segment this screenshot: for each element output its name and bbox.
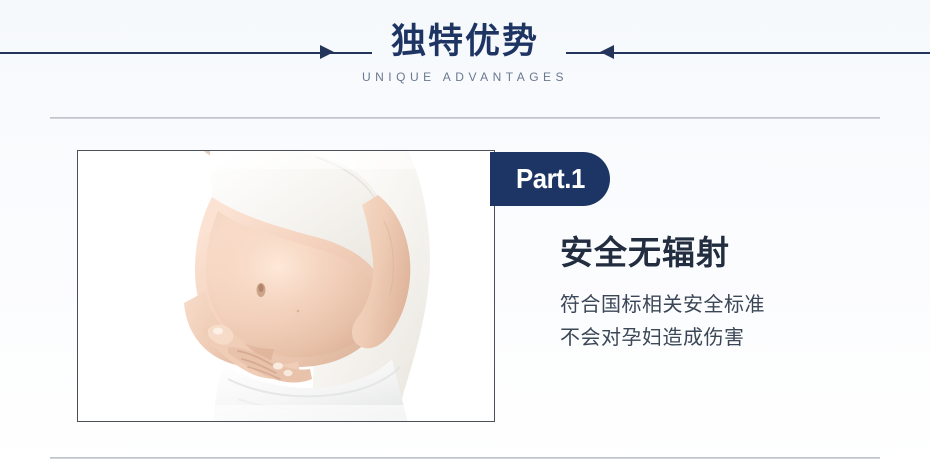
feature-copy-block: 安全无辐射 符合国标相关安全标准 不会对孕妇造成伤害 — [560, 232, 890, 354]
pregnant-woman-illustration — [78, 151, 495, 422]
feature-description-line-2: 不会对孕妇造成伤害 — [560, 321, 890, 354]
divider-top — [50, 117, 880, 119]
feature-photo-frame — [77, 150, 495, 422]
feature-description: 符合国标相关安全标准 不会对孕妇造成伤害 — [560, 288, 890, 354]
divider-bottom — [50, 457, 880, 459]
header-title-block: 独特优势 UNIQUE ADVANTAGES — [0, 20, 930, 85]
feature-photo — [78, 151, 494, 421]
section-title-en: UNIQUE ADVANTAGES — [0, 69, 930, 85]
promo-section: 独特优势 UNIQUE ADVANTAGES — [0, 0, 930, 473]
part-badge: Part.1 — [490, 152, 610, 206]
section-header: 独特优势 UNIQUE ADVANTAGES — [0, 0, 930, 105]
feature-description-line-1: 符合国标相关安全标准 — [560, 288, 890, 321]
section-title-cn: 独特优势 — [0, 20, 930, 64]
feature-heading: 安全无辐射 — [560, 232, 890, 274]
part-badge-label: Part.1 — [516, 163, 585, 195]
